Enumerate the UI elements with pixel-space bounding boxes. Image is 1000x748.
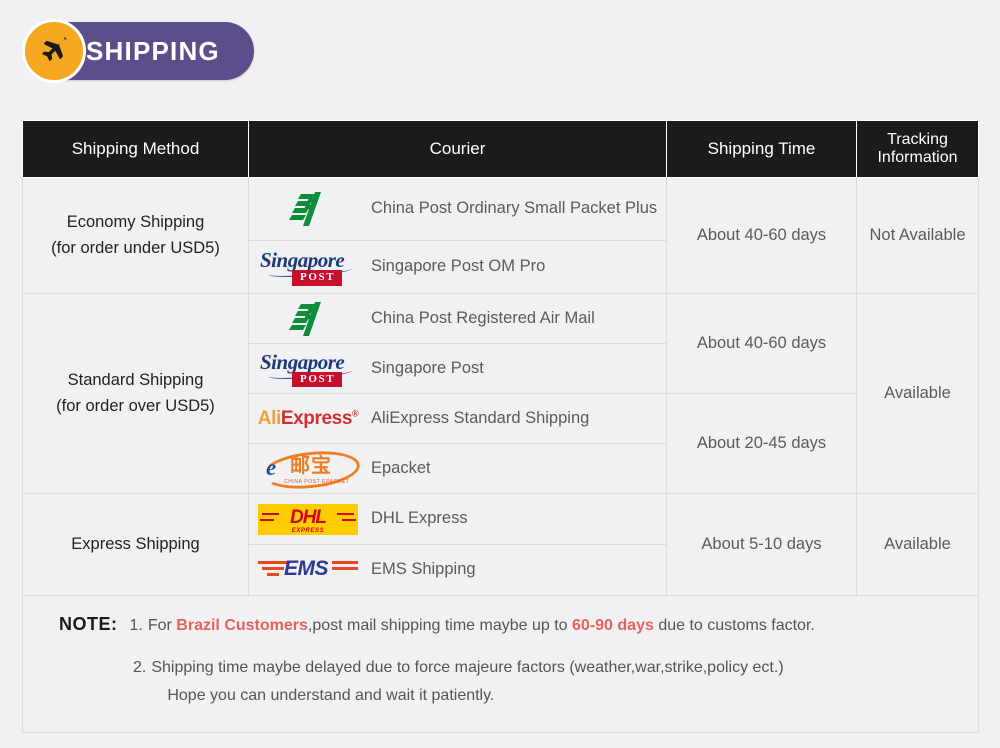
courier-cell: Singapore POST Singapore Post — [249, 344, 667, 394]
courier-cell: China Post Registered Air Mail — [249, 294, 667, 344]
aliexpress-ali-text: Ali — [258, 408, 281, 429]
note-item-1-highlight-brazil: Brazil Customers — [176, 617, 308, 634]
note-row: NOTE: 1.For Brazil Customers,post mail s… — [23, 596, 979, 733]
tracking-status-badge: Available — [857, 294, 979, 494]
method-standard-shipping: Standard Shipping (for order over USD5) — [23, 294, 249, 494]
note-item-1-highlight-days: 60-90 days — [572, 617, 654, 634]
singapore-post-logo: Singapore POST — [249, 248, 367, 286]
shipping-header-badge: SHIPPING — [24, 22, 254, 80]
aliexpress-logo: AliExpress® — [249, 408, 367, 430]
courier-cell: EMS EMS Shipping — [249, 545, 667, 596]
trademark-icon: ® — [352, 408, 358, 418]
ems-stripe — [332, 561, 358, 564]
dhl-stripe — [342, 519, 356, 522]
courier-name: DHL Express — [367, 507, 468, 531]
dhl-stripe — [260, 519, 274, 522]
epacket-subtext: CHINA POST EPACKET — [284, 479, 349, 485]
courier-name: Singapore Post — [367, 357, 484, 381]
ems-text: EMS — [284, 558, 328, 579]
shipping-time-value: About 40-60 days — [667, 294, 857, 394]
courier-name: China Post Registered Air Mail — [367, 307, 595, 331]
aliexpress-express-text: Express — [281, 408, 352, 429]
singapore-post-box: POST — [292, 270, 342, 286]
note-item-1-part2: ,post mail shipping time maybe up to — [308, 617, 572, 634]
method-express-shipping: Express Shipping — [23, 494, 249, 596]
ems-logo: EMS — [249, 554, 367, 586]
singapore-post-logo: Singapore POST — [249, 350, 367, 388]
note-item-2-line2: Hope you can understand and wait it pati… — [151, 682, 783, 710]
method-label-line1: Economy Shipping — [29, 210, 242, 236]
shipping-time-value: About 20-45 days — [667, 394, 857, 494]
courier-name: AliExpress Standard Shipping — [367, 407, 589, 431]
note-item-2-number: 2. — [133, 654, 146, 682]
shipping-header-title: SHIPPING — [86, 36, 220, 67]
method-label-line1: Express Shipping — [29, 532, 242, 558]
tracking-status-badge: Available — [857, 494, 979, 596]
table-row: Express Shipping DHL EXPRESS — [23, 494, 979, 545]
dhl-stripe — [337, 513, 354, 516]
note-item-2-line1: Shipping time maybe delayed due to force… — [151, 659, 783, 676]
column-header-shipping-time: Shipping Time — [667, 121, 857, 178]
table-row: Economy Shipping (for order under USD5) — [23, 178, 979, 241]
note-item-1-number: 1. — [130, 617, 143, 634]
column-header-courier: Courier — [249, 121, 667, 178]
dhl-subtext: EXPRESS — [258, 528, 358, 534]
courier-cell: e 邮宝 CHINA POST EPACKET Epacket — [249, 444, 667, 494]
method-label-line2: (for order under USD5) — [29, 236, 242, 262]
note-section: NOTE: 1.For Brazil Customers,post mail s… — [23, 596, 979, 733]
courier-cell: Singapore POST Singapore Post OM Pro — [249, 241, 667, 294]
epacket-e-letter: e — [266, 456, 276, 479]
china-post-logo — [249, 190, 367, 228]
courier-cell: AliExpress® AliExpress Standard Shipping — [249, 394, 667, 444]
airplane-icon — [22, 19, 86, 83]
table-header-row: Shipping Method Courier Shipping Time Tr… — [23, 121, 979, 178]
courier-name: Singapore Post OM Pro — [367, 255, 545, 279]
shipping-table: Shipping Method Courier Shipping Time Tr… — [22, 120, 979, 733]
courier-cell: DHL EXPRESS DHL Express — [249, 494, 667, 545]
epacket-logo: e 邮宝 CHINA POST EPACKET — [249, 449, 367, 489]
method-economy-shipping: Economy Shipping (for order under USD5) — [23, 178, 249, 294]
column-header-tracking-information: Tracking Information — [857, 121, 979, 178]
method-label-line1: Standard Shipping — [29, 368, 242, 394]
method-label-line2: (for order over USD5) — [29, 394, 242, 420]
note-item-1-part3: due to customs factor. — [654, 617, 815, 634]
courier-name: Epacket — [367, 457, 431, 481]
ems-stripe — [332, 567, 358, 570]
ems-stripe — [262, 567, 284, 570]
tracking-status-badge: Not Available — [857, 178, 979, 294]
shipping-time-value: About 40-60 days — [667, 178, 857, 294]
note-item-2: Shipping time maybe delayed due to force… — [151, 654, 783, 710]
table-row: Standard Shipping (for order over USD5) — [23, 294, 979, 344]
china-post-logo — [249, 300, 367, 338]
note-label: NOTE: — [59, 614, 118, 635]
courier-cell: China Post Ordinary Small Packet Plus — [249, 178, 667, 241]
courier-name: EMS Shipping — [367, 558, 476, 582]
note-item-1: 1.For Brazil Customers,post mail shippin… — [130, 612, 815, 640]
note-item-1-part1: For — [148, 617, 176, 634]
column-header-shipping-method: Shipping Method — [23, 121, 249, 178]
shipping-info-page: SHIPPING Shipping Method Courier Shippin… — [0, 0, 1000, 748]
epacket-chinese-text: 邮宝 — [290, 456, 332, 476]
shipping-time-value: About 5-10 days — [667, 494, 857, 596]
dhl-stripe — [262, 513, 279, 516]
courier-name: China Post Ordinary Small Packet Plus — [367, 197, 657, 221]
ems-stripe — [267, 573, 279, 576]
singapore-post-box: POST — [292, 372, 342, 388]
dhl-text: DHL — [290, 508, 326, 527]
dhl-logo: DHL EXPRESS — [249, 504, 367, 535]
